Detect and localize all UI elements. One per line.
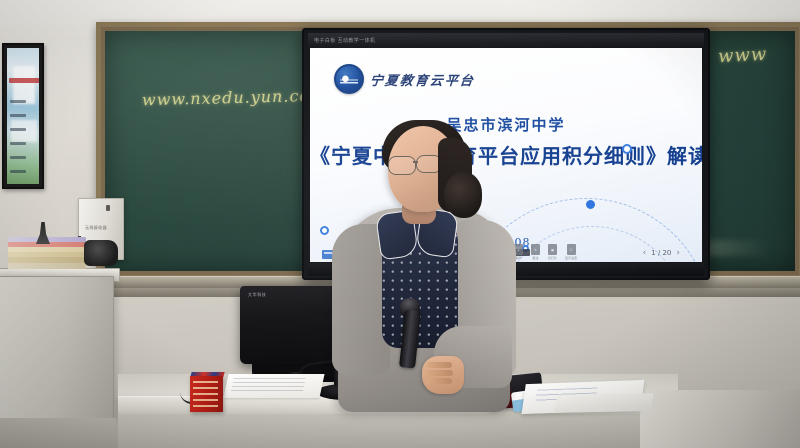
classroom-photo: www.nxedu.yun.com www 电子白板 互动教学一体机 宁夏教育云…	[0, 0, 800, 448]
toolbar-label: 批注	[532, 256, 538, 260]
display-top-bezel-label: 电子白板 互动教学一体机	[308, 33, 704, 47]
next-slide-icon[interactable]: ›	[676, 248, 680, 258]
poster-glare-highlight	[13, 66, 35, 104]
slide-logo: 宁夏教育云平台	[334, 64, 475, 94]
slide-decorative-dot	[586, 200, 595, 209]
poster-text-line	[10, 142, 26, 145]
finger	[426, 378, 452, 384]
slide-decorative-ring	[622, 144, 632, 154]
slide-pager[interactable]: ‹ 1 / 20 ›	[643, 248, 680, 258]
pen-icon: ✎	[531, 244, 540, 255]
presenter	[330, 120, 520, 410]
slide-logo-text: 宁夏教育云平台	[369, 70, 476, 89]
red-box-text-line	[193, 399, 218, 401]
prev-slide-icon[interactable]: ‹	[643, 248, 647, 258]
poster-glare-highlight-2	[11, 120, 37, 142]
red-box-text-line	[193, 387, 218, 389]
toolbar-item-display[interactable]: ☐ 显示设置	[565, 244, 577, 260]
presenter-hand	[422, 356, 464, 394]
eyeglasses-left-lens-icon	[388, 156, 416, 175]
wall-poster-frame	[2, 43, 44, 189]
red-box-text-line	[193, 393, 218, 395]
eyeglasses-bridge	[413, 161, 418, 163]
black-equipment-object	[84, 240, 118, 266]
desk-right-section	[640, 390, 800, 448]
poster-text-line	[10, 170, 26, 173]
wall-poster-image	[7, 48, 39, 184]
poster-text-line	[10, 156, 26, 159]
poster-heading-text	[9, 78, 39, 83]
display-icon: ☐	[567, 244, 576, 255]
finger	[425, 370, 453, 376]
slide-page-indicator: 1 / 20	[651, 249, 671, 257]
institution-emblem-icon	[334, 64, 364, 94]
stack-layer	[8, 263, 86, 269]
display-brand-text: 电子白板 互动教学一体机	[314, 37, 375, 44]
monitor-brand-label: 大华科技	[248, 292, 266, 298]
poster-text-line	[10, 114, 26, 117]
presenter-hair-bun	[444, 172, 482, 218]
status-led-icon	[106, 205, 110, 211]
poster-text-line	[10, 100, 26, 103]
toolbar-label: 幻灯片	[548, 256, 557, 260]
slide-decorative-ring	[320, 226, 329, 235]
red-box-text-line	[193, 381, 218, 383]
toolbar-item-slides[interactable]: ▦ 幻灯片	[548, 244, 557, 260]
desk-front-panel	[118, 414, 678, 448]
toolbar-item-pen[interactable]: ✎ 批注	[531, 244, 540, 260]
red-material-box	[190, 376, 223, 412]
red-box-text-line	[193, 405, 218, 407]
slides-icon: ▦	[548, 244, 557, 255]
poster-text-line	[10, 128, 26, 131]
toolbar-label: 显示设置	[565, 256, 577, 260]
desk-papers-right-2	[554, 393, 653, 413]
wall-device-label: 无线接收器	[85, 225, 107, 231]
presentation-toolbar[interactable]: ● 指针 ✎ 批注 ▦ 幻灯片 ☐ 显示设置	[514, 244, 577, 260]
paper-text-lines	[231, 378, 306, 391]
finger	[426, 362, 452, 368]
desk-papers-left	[223, 374, 324, 398]
